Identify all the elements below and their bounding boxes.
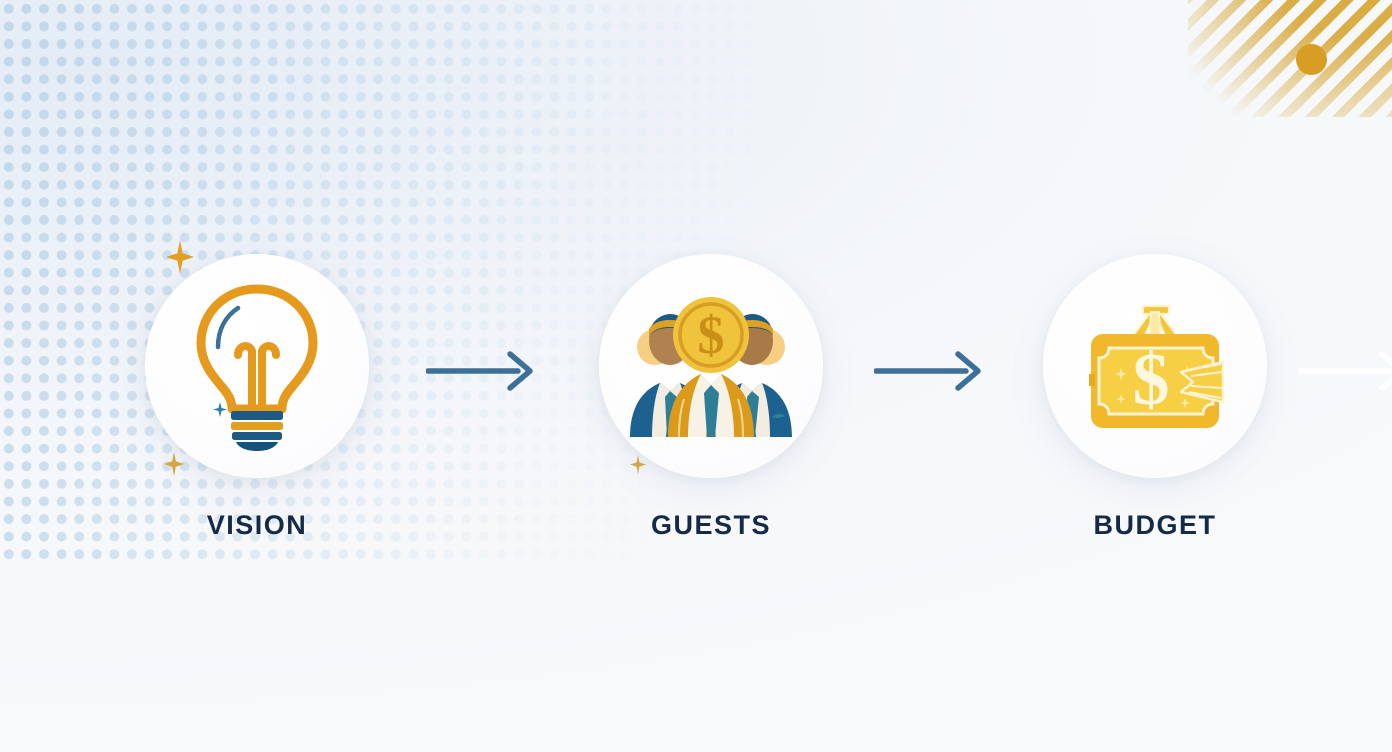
process-flow-canvas: VISION: [0, 0, 1392, 752]
step-vision[interactable]: VISION: [145, 254, 369, 539]
step-guests-label: GUESTS: [599, 512, 823, 539]
step-guests[interactable]: $ GUESTS: [599, 254, 823, 539]
svg-text:$: $: [1133, 339, 1170, 421]
money-wallet-icon: $: [1081, 292, 1229, 440]
step-budget[interactable]: $ BUDGET: [1043, 254, 1267, 539]
step-budget-disc[interactable]: $: [1043, 254, 1267, 478]
svg-text:$: $: [698, 305, 725, 365]
step-vision-disc[interactable]: [145, 254, 369, 478]
step-budget-label: BUDGET: [1043, 512, 1267, 539]
gold-solid-circle: [1296, 44, 1327, 75]
arrow-budget-to-next: [1298, 350, 1392, 392]
arrow-guests-to-budget: [874, 350, 984, 392]
step-vision-label: VISION: [145, 512, 369, 539]
arrow-vision-to-guests: [426, 350, 536, 392]
group-of-people-icon: $: [622, 295, 800, 437]
step-guests-disc[interactable]: $: [599, 254, 823, 478]
lightbulb-icon: [191, 281, 323, 451]
gold-diagonal-dash-pattern: [1188, 0, 1392, 117]
